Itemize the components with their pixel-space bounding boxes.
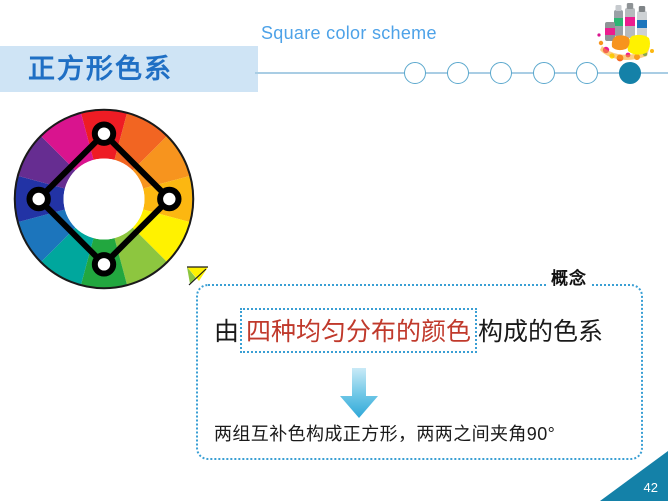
- page-number: 42: [644, 480, 658, 495]
- line1-suffix: 构成的色系: [478, 312, 603, 348]
- color-wheel-diagram: [12, 107, 196, 291]
- progress-dot-1[interactable]: [404, 62, 426, 84]
- progress-dot-2[interactable]: [447, 62, 469, 84]
- corner-flag-decoration-icon: [186, 266, 210, 288]
- line1-highlight-box: 四种均匀分布的颜色: [240, 308, 477, 353]
- page-subtitle: Square color scheme: [261, 23, 437, 44]
- page-title: 正方形色系: [28, 50, 173, 88]
- concept-line-2: 两组互补色构成正方形，两两之间夹角90°: [214, 421, 634, 447]
- line1-prefix: 由: [214, 312, 239, 348]
- paint-cans-decoration-icon: [592, 2, 666, 64]
- progress-dot-5[interactable]: [576, 62, 598, 84]
- line1-highlight-text: 四种均匀分布的颜色: [246, 312, 471, 348]
- progress-dot-3[interactable]: [490, 62, 512, 84]
- progress-dot-6-active[interactable]: [619, 62, 641, 84]
- progress-dot-4[interactable]: [533, 62, 555, 84]
- slide-canvas: 正方形色系 Square color scheme: [0, 0, 668, 501]
- down-arrow-icon: [337, 368, 381, 420]
- concept-label: 概念: [546, 268, 592, 290]
- concept-line-1: 由 四种均匀分布的颜色 构成的色系: [214, 311, 628, 349]
